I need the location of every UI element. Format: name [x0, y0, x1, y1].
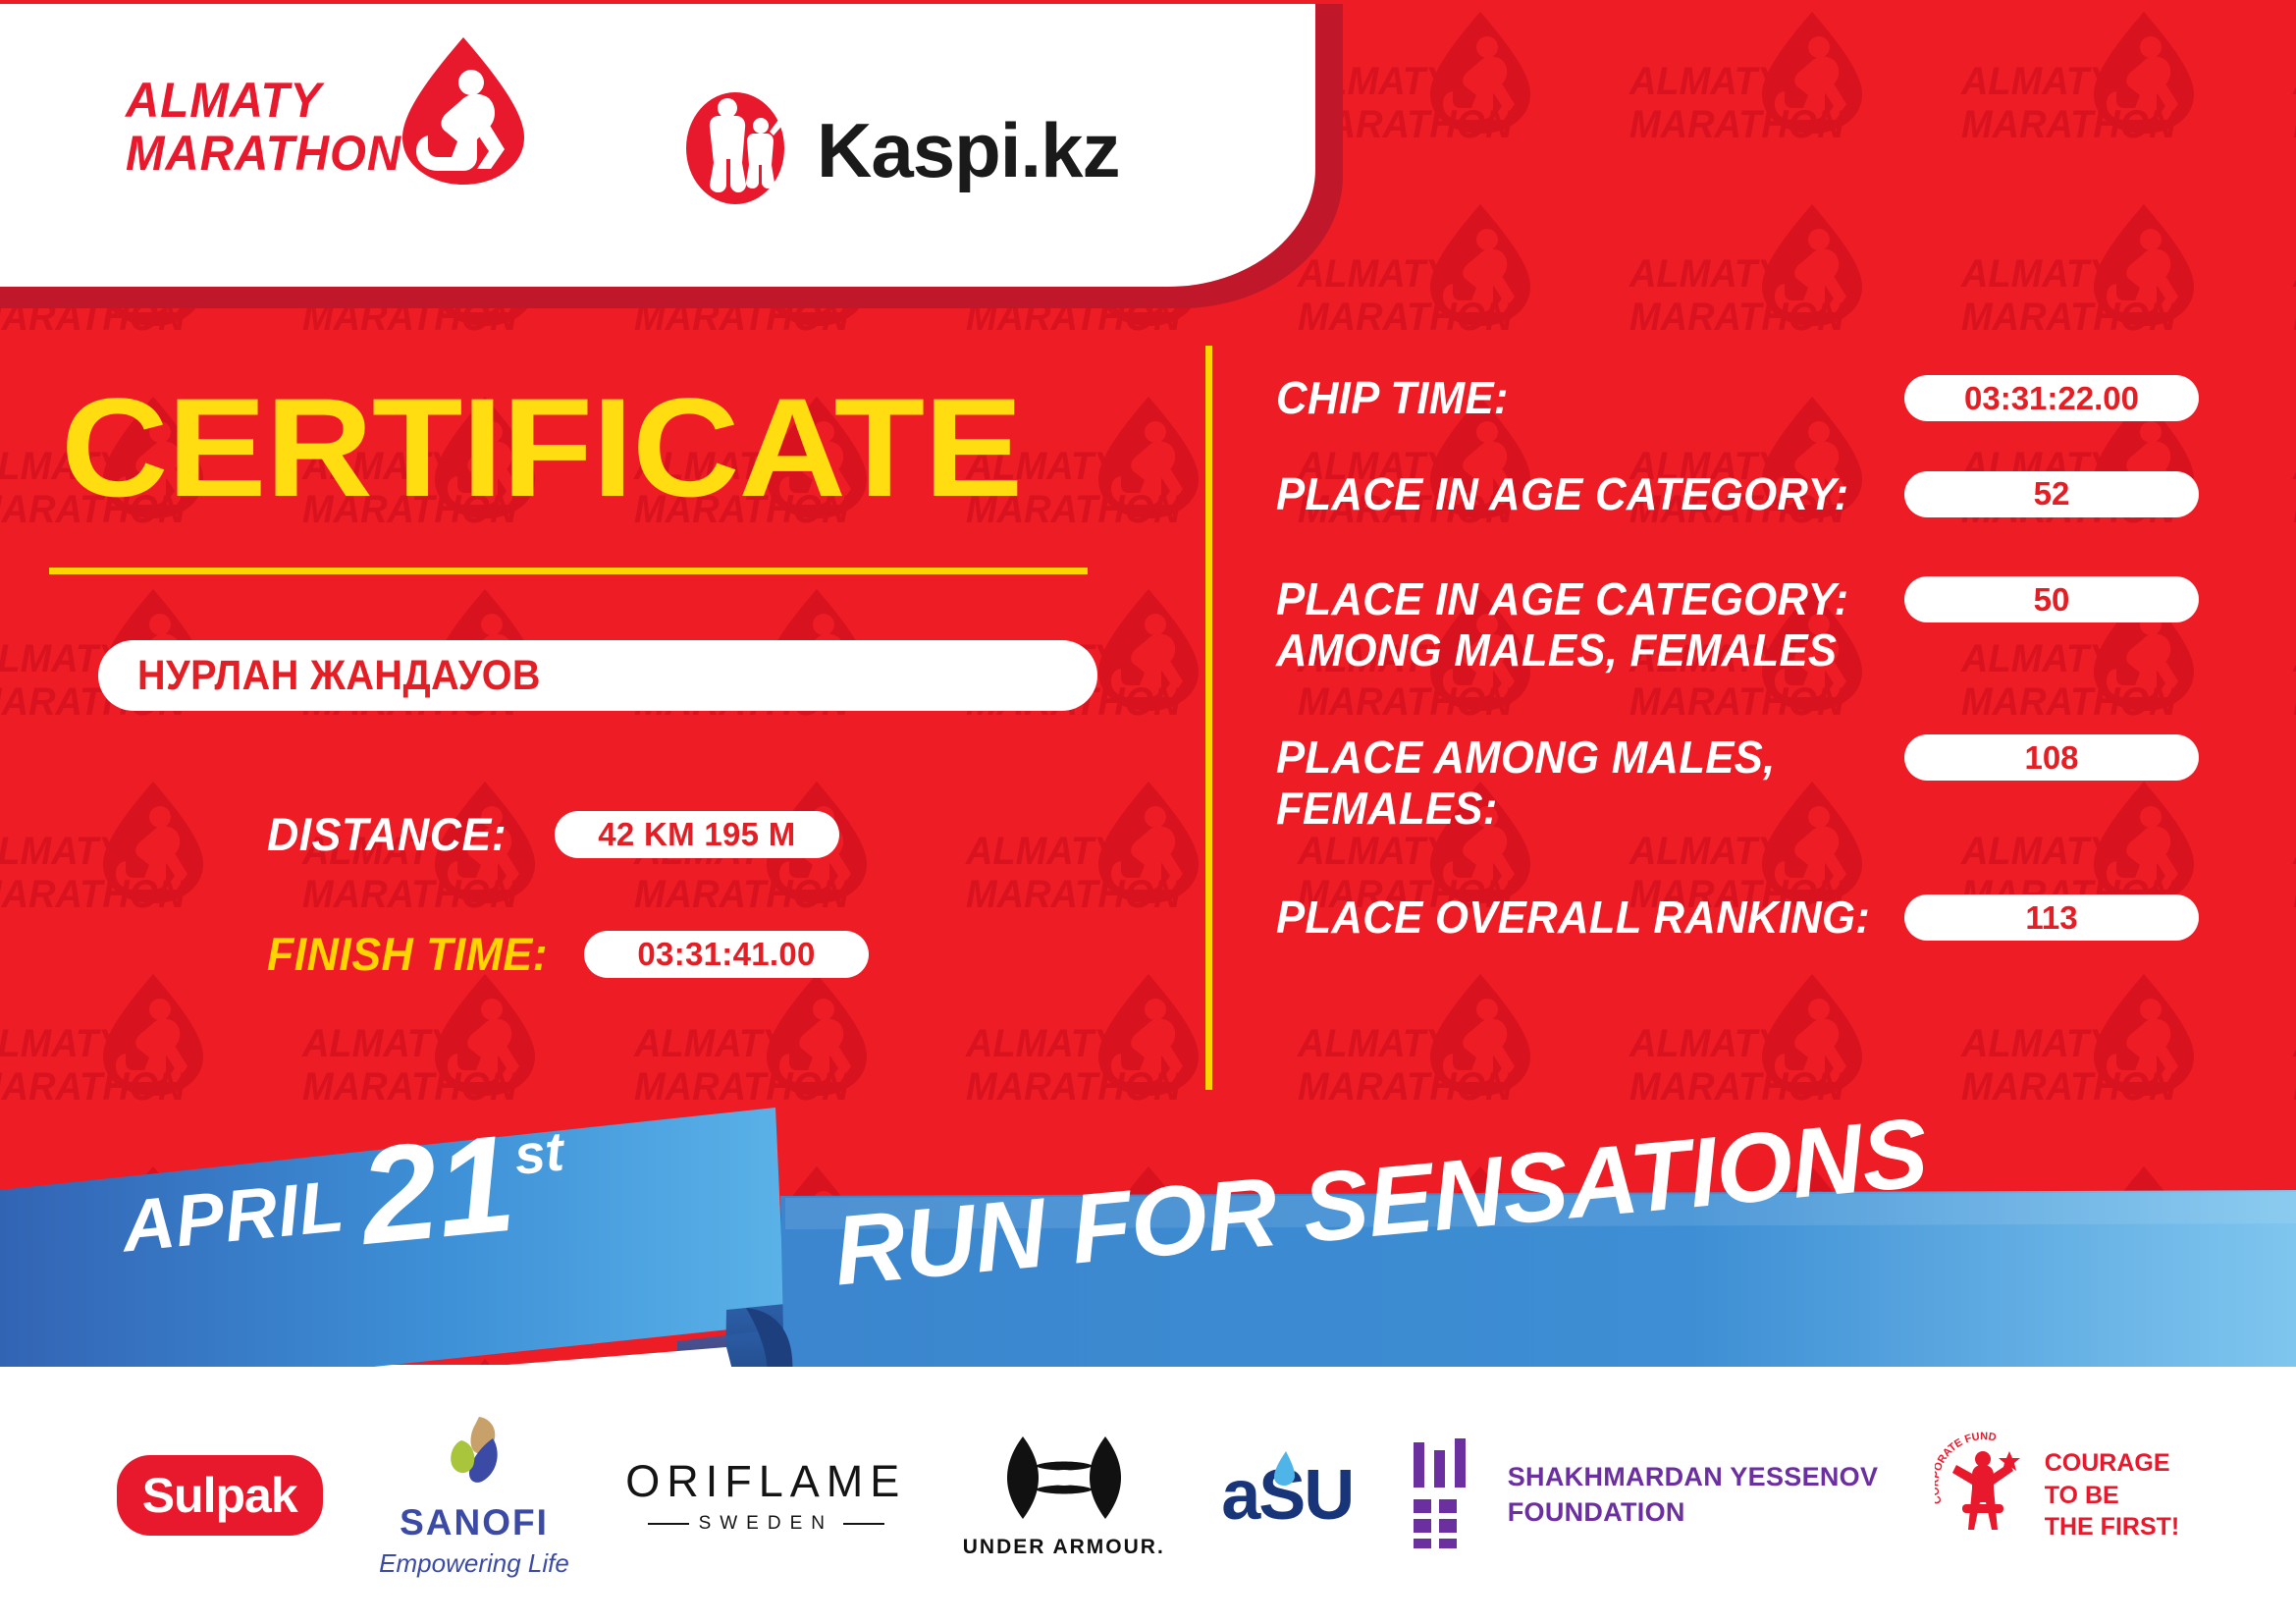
stat-value: 52 — [1904, 471, 2199, 517]
sulpak-wordmark: Sulpak — [117, 1455, 323, 1536]
oriflame-subline-wrap: SWEDEN — [625, 1513, 906, 1535]
svg-text:ALMATY: ALMATY — [2292, 60, 2296, 103]
stat-row: CHIP TIME:03:31:22.00 — [1276, 373, 2199, 424]
watermark-tile: ALMATYMARATHON — [1951, 192, 2275, 389]
oriflame-dash-left-icon — [648, 1523, 689, 1525]
svg-text:ALMATY: ALMATY — [633, 1022, 789, 1065]
asu-logo: aSU — [1221, 1455, 1353, 1536]
watermark-tile: ALMATYMARATHON — [1620, 0, 1944, 196]
finish-time-row: FINISH TIME: 03:31:41.00 — [267, 927, 869, 981]
kaspi-people-icon — [677, 90, 793, 211]
almaty-marathon-logo: ALMATY MARATHON — [126, 57, 532, 195]
stat-value: 108 — [1904, 734, 2199, 781]
sponsor-oriflame: ORIFLAME SWEDEN — [625, 1456, 906, 1535]
svg-text:ALMATY: ALMATY — [1629, 1022, 1785, 1065]
svg-text:ALMATY: ALMATY — [1297, 1022, 1453, 1065]
courage-fund-icon: CORPORATE FUND — [1935, 1432, 2033, 1560]
stat-value: 03:31:22.00 — [1904, 375, 2199, 421]
watermark-tile: ALMATYMARATHON — [2283, 577, 2296, 774]
stat-value: 113 — [1904, 894, 2199, 941]
asu-droplet-icon — [1272, 1449, 1298, 1491]
event-day: 21 — [355, 1121, 519, 1259]
svg-text:ALMATY: ALMATY — [301, 1022, 457, 1065]
svg-text:ALMATY: ALMATY — [0, 830, 126, 873]
watermark-tile: ALMATYMARATHON — [0, 770, 285, 966]
stat-label-line: PLACE IN AGE CATEGORY: — [1276, 574, 1848, 625]
courage-line2: TO BE — [2045, 1480, 2180, 1512]
svg-text:ALMATY: ALMATY — [1960, 60, 2116, 103]
svg-text:MARATHON: MARATHON — [0, 873, 187, 916]
stat-row: PLACE IN AGE CATEGORY:52 — [1276, 469, 2199, 520]
sponsor-under-armour: UNDER ARMOUR. — [963, 1433, 1165, 1559]
kaspi-wordmark: Kaspi.kz — [817, 106, 1119, 195]
yessenov-wordmark: SHAKHMARDAN YESSENOV FOUNDATION — [1508, 1460, 1879, 1530]
stat-label-line: CHIP TIME: — [1276, 373, 1509, 424]
svg-text:ALMATY: ALMATY — [965, 830, 1121, 873]
stat-label: PLACE IN AGE CATEGORY: — [1276, 469, 1848, 520]
distance-value: 42 KM 195 M — [555, 811, 839, 858]
stat-label-line: AMONG MALES, FEMALES — [1276, 625, 1848, 677]
page-title: CERTIFICATE — [61, 378, 1022, 518]
watermark-tile: ALMATYMARATHON — [2283, 192, 2296, 389]
svg-text:ALMATY: ALMATY — [1629, 60, 1785, 103]
stat-label: PLACE OVERALL RANKING: — [1276, 893, 1870, 944]
svg-text:MARATHON: MARATHON — [634, 873, 850, 916]
svg-text:ALMATY: ALMATY — [2292, 252, 2296, 296]
svg-text:ALMATY: ALMATY — [2292, 445, 2296, 488]
runner-drop-icon — [395, 33, 532, 195]
sponsor-yessenov-foundation: SHAKHMARDAN YESSENOV FOUNDATION — [1410, 1438, 1879, 1553]
under-armour-wordmark: UNDER ARMOUR. — [963, 1536, 1165, 1559]
svg-text:ALMATY: ALMATY — [2292, 830, 2296, 873]
stat-label-line: PLACE AMONG MALES, — [1276, 732, 1776, 784]
stat-row: PLACE OVERALL RANKING:113 — [1276, 893, 2199, 944]
svg-text:MARATHON: MARATHON — [966, 873, 1182, 916]
stat-label-line: FEMALES: — [1276, 784, 1776, 835]
almaty-logo-line2: MARATHON — [126, 127, 401, 180]
athlete-name: НУРЛАН ЖАНДАУОВ — [137, 652, 541, 700]
sanofi-tagline: Empowering Life — [379, 1548, 569, 1579]
athlete-name-field: НУРЛАН ЖАНДАУОВ — [98, 640, 1097, 711]
stat-value: 50 — [1904, 576, 2199, 623]
svg-text:MARATHON: MARATHON — [1961, 296, 2177, 339]
yessenov-line1: SHAKHMARDAN YESSENOV — [1508, 1460, 1879, 1495]
finish-time-value: 03:31:41.00 — [584, 931, 869, 978]
svg-text:ALMATY: ALMATY — [1297, 252, 1453, 296]
svg-text:ALMATY: ALMATY — [1960, 252, 2116, 296]
svg-text:ALMATY: ALMATY — [2292, 1022, 2296, 1065]
sponsor-sulpak: Sulpak — [117, 1455, 323, 1536]
stat-label: PLACE IN AGE CATEGORY:AMONG MALES, FEMAL… — [1276, 574, 1848, 676]
courage-line1: COURAGE — [2045, 1447, 2180, 1480]
watermark-tile: ALMATYMARATHON — [1288, 192, 1612, 389]
sponsor-sanofi: SANOFI Empowering Life — [379, 1413, 569, 1579]
under-armour-icon — [1005, 1433, 1123, 1528]
stat-label: PLACE AMONG MALES,FEMALES: — [1276, 732, 1776, 834]
oriflame-dash-right-icon — [843, 1523, 884, 1525]
sanofi-wordmark: SANOFI — [400, 1502, 549, 1543]
courage-fund-wordmark: COURAGE TO BE THE FIRST! — [2045, 1447, 2180, 1543]
stat-label-line: PLACE OVERALL RANKING: — [1276, 893, 1870, 944]
svg-text:MARATHON: MARATHON — [1961, 103, 2177, 146]
stat-row: PLACE AMONG MALES,FEMALES:108 — [1276, 732, 2199, 834]
header-logos: ALMATY MARATHON Kaspi.kz — [0, 0, 1315, 287]
watermark-tile: ALMATYMARATHON — [2283, 770, 2296, 966]
sponsor-bar: Sulpak SANOFI Empowering Life ORIFLAME S… — [0, 1367, 2296, 1624]
svg-text:MARATHON: MARATHON — [302, 873, 518, 916]
svg-text:ALMATY: ALMATY — [1629, 252, 1785, 296]
results-list: CHIP TIME:03:31:22.00PLACE IN AGE CATEGO… — [1276, 373, 2199, 999]
svg-text:MARATHON: MARATHON — [1298, 296, 1514, 339]
yessenov-mark-icon — [1410, 1438, 1488, 1553]
svg-text:MARATHON: MARATHON — [1629, 296, 1845, 339]
watermark-tile: ALMATYMARATHON — [2283, 385, 2296, 581]
svg-text:ALMATY: ALMATY — [1960, 1022, 2116, 1065]
watermark-tile: ALMATYMARATHON — [956, 770, 1280, 966]
yessenov-line2: FOUNDATION — [1508, 1495, 1879, 1531]
oriflame-subline: SWEDEN — [699, 1513, 833, 1535]
title-underline — [49, 568, 1088, 574]
watermark-tile: ALMATYMARATHON — [2283, 0, 2296, 196]
sponsor-courage-fund: CORPORATE FUND COURAGE TO BE THE FIRST! — [1935, 1432, 2180, 1560]
almaty-logo-line1: ALMATY — [126, 74, 401, 127]
watermark-tile: ALMATYMARATHON — [1620, 192, 1944, 389]
sponsor-asu: aSU — [1221, 1455, 1353, 1536]
oriflame-wordmark: ORIFLAME — [625, 1456, 906, 1507]
distance-label: DISTANCE: — [267, 807, 507, 861]
distance-row: DISTANCE: 42 KM 195 M — [267, 807, 839, 861]
stat-row: PLACE IN AGE CATEGORY:AMONG MALES, FEMAL… — [1276, 574, 2199, 676]
sanofi-mark-icon — [432, 1413, 516, 1502]
kaspi-logo: Kaspi.kz — [677, 90, 1119, 211]
courage-line3: THE FIRST! — [2045, 1511, 2180, 1543]
stat-label: CHIP TIME: — [1276, 373, 1509, 424]
svg-text:ALMATY: ALMATY — [965, 1022, 1121, 1065]
svg-text:ALMATY: ALMATY — [2292, 637, 2296, 680]
stat-label-line: PLACE IN AGE CATEGORY: — [1276, 469, 1848, 520]
watermark-tile: ALMATYMARATHON — [1951, 0, 2275, 196]
column-divider — [1205, 346, 1212, 1090]
svg-text:ALMATY: ALMATY — [0, 1022, 126, 1065]
finish-time-label: FINISH TIME: — [267, 927, 548, 981]
svg-text:MARATHON: MARATHON — [1629, 103, 1845, 146]
